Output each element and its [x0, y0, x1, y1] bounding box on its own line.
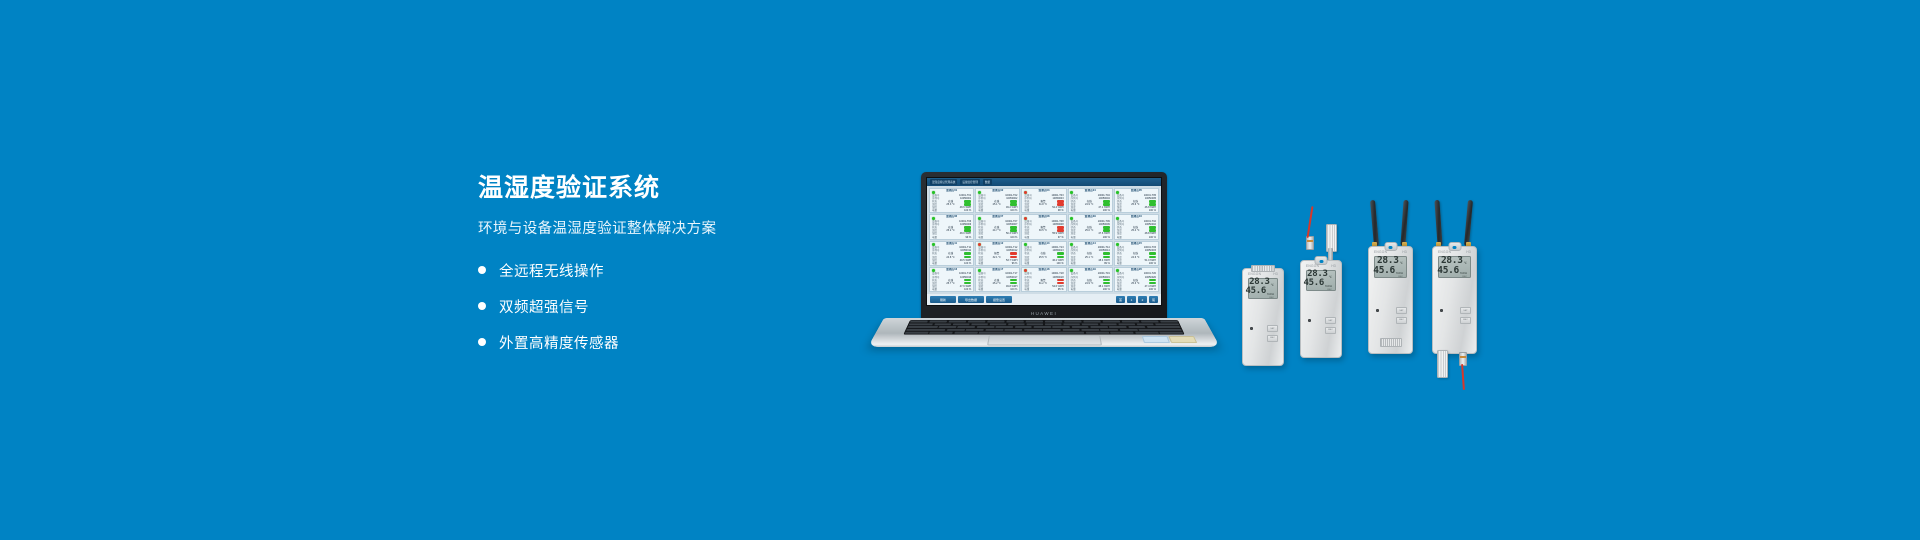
trackpad[interactable] — [987, 335, 1102, 345]
sensor-card-row: 电量100 % — [1117, 236, 1156, 239]
device-brand-right: H3 — [1273, 272, 1278, 276]
spec-sticker — [1142, 336, 1170, 343]
sensor-card-title: 监测点12 — [978, 243, 1017, 246]
sensor-card-row: 电量100 % — [978, 209, 1017, 212]
sensor-card-title: 监测点13 — [1024, 243, 1063, 246]
device-brand-right: H3 — [1402, 250, 1407, 254]
sensor-card-row: 电量100 % — [1117, 209, 1156, 212]
sensor-field-value: 100 % — [1103, 236, 1110, 239]
sensor-field-label: 电量 — [932, 262, 937, 265]
sensor-card-title: 监测点04 — [1071, 190, 1110, 193]
sensor-field-value: 25.7 ℃ — [946, 282, 954, 285]
sensor-field-value: 100 % — [1057, 262, 1064, 265]
sensor-field-label: 电量 — [1024, 262, 1029, 265]
device-wireless-logger-a: ENGON H3 28.3 ℃ 45.6 %RH REC SET REC — [1368, 246, 1413, 354]
sensor-status-led — [1070, 191, 1073, 194]
probe-wire — [1461, 364, 1464, 390]
sensor-card-title: 监测点07 — [978, 216, 1017, 219]
sensor-field-value: 100 % — [1149, 209, 1156, 212]
sensor-card[interactable]: 监测点20设备号10001-T20序列号10050020状态在线温度25.3 ℃… — [1114, 267, 1159, 292]
sensor-status-pill — [964, 279, 971, 282]
sensor-field-label: 电量 — [932, 288, 937, 291]
lcd-humidity-line: 45.6 %RH — [1378, 266, 1403, 276]
sensor-field-value: 24.9 ℃ — [1085, 282, 1093, 285]
device-body: ENGON H3 28.3 ℃ 45.6 %RH REC SET REC — [1300, 260, 1342, 358]
lcd-humidity-value: 45.6 — [1437, 266, 1459, 276]
sensor-status-led — [978, 217, 981, 220]
lcd-humidity-unit: %RH — [1460, 272, 1467, 276]
keyboard-row — [909, 323, 1180, 325]
hanging-hook-icon — [1384, 242, 1397, 251]
sensor-card-row: 电量100 % — [1071, 236, 1110, 239]
sensor-field-value: 100 % — [1010, 288, 1017, 291]
sensor-card-title: 监测点11 — [932, 243, 971, 246]
pager-page-2[interactable]: 2 — [1138, 296, 1147, 303]
sensor-card-title: 监测点02 — [978, 190, 1017, 193]
sensor-card-title: 监测点01 — [932, 190, 971, 193]
feature-label: 外置高精度传感器 — [499, 332, 619, 353]
sensor-card-title: 监测点06 — [932, 216, 971, 219]
feature-list: 全远程无线操作 双频超强信号 外置高精度传感器 — [478, 260, 808, 353]
lcd-status-note: REC — [1442, 276, 1467, 278]
hero-copy-block: 温湿度验证系统 环境与设备温湿度验证整体解决方案 全远程无线操作 双频超强信号 … — [478, 175, 808, 368]
device-lcd-display: 28.3 ℃ 45.6 %RH REC — [1374, 256, 1407, 278]
sensor-field-label: 电量 — [1117, 262, 1122, 265]
sensor-card-title: 监测点08 — [1024, 216, 1063, 219]
device-rec-button[interactable]: REC — [1267, 335, 1278, 342]
app-header-bar: 温湿度验证管理系统 设备监控管理 数据 — [927, 178, 1161, 186]
sensor-card-row: 电量100 % — [1071, 209, 1110, 212]
device-rec-button[interactable]: REC — [1325, 327, 1336, 334]
sensor-status-pill — [1103, 252, 1110, 255]
sensor-card[interactable]: 监测点12设备号10001-T12序列号10050012状态报警温度32.1 ℃… — [975, 241, 1020, 266]
sensor-field-value: 25.5 ℃ — [1039, 256, 1047, 259]
device-rec-button[interactable]: REC — [1460, 317, 1471, 324]
sensor-card[interactable]: 监测点19设备号10001-T19序列号10050019状态在线温度24.9 ℃… — [1068, 267, 1113, 292]
vent-grille-icon — [1380, 338, 1402, 347]
humidity-probe-icon — [1437, 350, 1448, 378]
antenna-icon — [1400, 200, 1408, 246]
sensor-status-led — [932, 191, 935, 194]
sensor-field-label: 电量 — [1071, 236, 1076, 239]
sensor-status-led — [1024, 243, 1027, 246]
app-footer-bar: 刷新 导出数据 报警设置 首 1 2 尾 — [927, 294, 1161, 305]
sensor-card-title: 监测点14 — [1071, 243, 1110, 246]
sensor-field-label: 电量 — [932, 236, 937, 239]
sensor-field-value: 25.1 ℃ — [993, 203, 1001, 206]
sensor-field-value: 24.6 ℃ — [1131, 256, 1139, 259]
pager-last[interactable]: 尾 — [1149, 296, 1158, 303]
page-subtitle: 环境与设备温湿度验证整体解决方案 — [478, 217, 808, 238]
pager-page-1[interactable]: 1 — [1127, 296, 1136, 303]
sensor-field-value: 25.2 ℃ — [993, 282, 1001, 285]
sensor-field-value: 24.7 ℃ — [993, 229, 1001, 232]
sensor-card-title: 监测点03 — [1024, 190, 1063, 193]
sensor-field-value: 97 % — [1058, 236, 1064, 239]
sensor-field-label: 电量 — [1117, 288, 1122, 291]
lcd-humidity-unit: %RH — [1396, 272, 1403, 276]
sensor-field-label: 电量 — [978, 236, 983, 239]
sensor-status-led — [1024, 191, 1027, 194]
keyboard-row — [907, 326, 1180, 328]
sensor-status-led — [932, 243, 935, 246]
sensor-field-value: 25.3 ℃ — [946, 203, 954, 206]
device-set-button[interactable]: SET — [1267, 325, 1278, 332]
lcd-humidity-unit: %RH — [1325, 285, 1332, 289]
sensor-field-value: 25.2 ℃ — [946, 229, 954, 232]
device-lcd-display: 28.3 ℃ 45.6 %RH REC — [1248, 278, 1278, 299]
device-logger-probe: ENGON H3 28.3 ℃ 45.6 %RH REC SET REC — [1300, 260, 1342, 358]
sensor-field-value: 24.9 ℃ — [1085, 203, 1093, 206]
sensor-status-pill — [1057, 252, 1064, 255]
sensor-field-value: 24.8 ℃ — [946, 256, 954, 259]
device-body: ENGON H3 28.3 ℃ 45.6 %RH REC SET REC — [1432, 246, 1477, 354]
laptop-brand-label: HUAWEI — [1031, 311, 1057, 316]
sensor-card-row: 电量100 % — [978, 236, 1017, 239]
sensor-field-label: 电量 — [1024, 209, 1029, 212]
sensor-field-label: 电量 — [1071, 209, 1076, 212]
sensor-status-led — [978, 191, 981, 194]
keyboard[interactable] — [903, 320, 1184, 335]
sensor-status-led — [1070, 217, 1073, 220]
lcd-humidity-value: 45.6 — [1373, 266, 1395, 276]
device-brand-right: H3 — [1331, 264, 1336, 268]
device-button-group: SET REC — [1325, 317, 1336, 334]
sensor-card-row: 电量100 % — [932, 209, 971, 212]
export-button[interactable]: 导出数据 — [958, 296, 984, 303]
app-tab[interactable]: 温湿度验证管理系统 — [930, 179, 957, 185]
vent-comb-icon — [1251, 265, 1275, 272]
device-brand-right: H3 — [1466, 250, 1471, 254]
sensor-status-pill — [1103, 279, 1110, 282]
sensor-card[interactable]: 监测点13设备号10001-T13序列号10050013状态在线温度25.5 ℃… — [1021, 241, 1066, 266]
laptop-screen: 温湿度验证管理系统 设备监控管理 数据 监测点01设备号10001-T01序列号… — [926, 177, 1162, 306]
sensor-field-label: 电量 — [978, 262, 983, 265]
sensor-card[interactable]: 监测点17设备号10001-T17序列号10050017状态在线温度25.2 ℃… — [975, 267, 1020, 292]
sensor-status-pill — [1057, 279, 1064, 282]
device-set-button[interactable]: SET — [1396, 307, 1407, 314]
device-status-led — [1308, 319, 1311, 322]
sensor-card[interactable]: 监测点09设备号10001-T09序列号10050009状态在线温度25.0 ℃… — [1068, 214, 1113, 239]
sensor-card[interactable]: 监测点18设备号10001-T18序列号10050018状态报警温度31.2 ℃… — [1021, 267, 1066, 292]
sensor-field-value: 25.3 ℃ — [1131, 282, 1139, 285]
sensor-field-value: 25.6 ℃ — [1131, 203, 1139, 206]
sensor-field-value: 100 % — [964, 288, 971, 291]
sensor-status-pill — [1010, 279, 1017, 282]
probe-wire — [1306, 206, 1313, 238]
lcd-humidity-value: 45.6 — [1246, 287, 1266, 296]
antenna-icon — [1370, 200, 1379, 246]
sensor-field-value: 98 % — [1058, 209, 1064, 212]
sensor-field-value: 100 % — [1010, 236, 1017, 239]
feature-item: 全远程无线操作 — [478, 260, 808, 281]
sensor-card[interactable]: 监测点07设备号10001-T07序列号10050007状态在线温度24.7 ℃… — [975, 214, 1020, 239]
sensor-field-value: 96 % — [1012, 262, 1018, 265]
sensor-card-grid: 监测点01设备号10001-T01序列号10050001状态在线温度25.3 ℃… — [927, 186, 1161, 294]
feature-label: 双频超强信号 — [499, 296, 589, 317]
device-logger-basic: ENGON H3 28.3 ℃ 45.6 %RH REC SET REC — [1242, 268, 1284, 366]
sensor-field-value: 99 % — [965, 236, 971, 239]
sensor-field-value: 25.4 ℃ — [1131, 229, 1139, 232]
sensor-field-value: 31.8 ℃ — [1039, 203, 1047, 206]
sensor-card[interactable]: 监测点02设备号10001-T02序列号10050002状态在线温度25.1 ℃… — [975, 188, 1020, 213]
sensor-status-pill — [964, 252, 971, 255]
sensor-field-label: 电量 — [1071, 262, 1076, 265]
sensor-card-row: 电量100 % — [932, 288, 971, 291]
sensor-card-row: 电量95 % — [1024, 288, 1063, 291]
sensor-field-value: 100 % — [1149, 236, 1156, 239]
device-button-group: SET REC — [1267, 325, 1278, 342]
lcd-status-note: REC — [1252, 297, 1274, 299]
sensor-card-row: 电量97 % — [1024, 236, 1063, 239]
sensor-card[interactable]: 监测点04设备号10001-T04序列号10050004状态在线温度24.9 ℃… — [1068, 188, 1113, 213]
sensor-status-led — [1024, 217, 1027, 220]
alarm-settings-button[interactable]: 报警设置 — [986, 296, 1012, 303]
sensor-card-row: 电量98 % — [1024, 209, 1063, 212]
sensor-card[interactable]: 监测点14设备号10001-T14序列号10050014状态在线温度25.1 ℃… — [1068, 241, 1113, 266]
lcd-status-note: REC — [1378, 276, 1403, 278]
lcd-humidity-value: 45.6 — [1304, 279, 1324, 288]
sensor-field-label: 电量 — [978, 209, 983, 212]
sensor-status-led — [932, 269, 935, 272]
sensor-card[interactable]: 监测点03设备号10001-T03序列号10050003状态报警温度31.8 ℃… — [1021, 188, 1066, 213]
sensor-field-value: 100 % — [964, 262, 971, 265]
sensor-field-value: 25.0 ℃ — [1085, 229, 1093, 232]
hero-banner: 温湿度验证系统 环境与设备温湿度验证整体解决方案 全远程无线操作 双频超强信号 … — [0, 0, 1920, 540]
sensor-field-value: 30.5 ℃ — [1039, 229, 1047, 232]
device-status-led — [1376, 309, 1379, 312]
bullet-dot-icon — [478, 302, 486, 310]
sensor-card-row: 电量100 % — [932, 262, 971, 265]
lcd-humidity-unit: %RH — [1267, 293, 1274, 297]
keyboard-row — [905, 332, 1184, 334]
sensor-card-row: 电量100 % — [1117, 288, 1156, 291]
sensor-field-value: 100 % — [1103, 209, 1110, 212]
feature-item: 双频超强信号 — [478, 296, 808, 317]
sensor-field-label: 电量 — [1117, 209, 1122, 212]
probe-connector — [1306, 236, 1314, 250]
sensor-card[interactable]: 监测点05设备号10001-T05序列号10050005状态在线温度25.6 ℃… — [1114, 188, 1159, 213]
sensor-field-value: 32.1 ℃ — [993, 256, 1001, 259]
sensor-card-row: 电量100 % — [1117, 262, 1156, 265]
sensor-card[interactable]: 监测点06设备号10001-T06序列号10050006状态在线温度25.2 ℃… — [929, 214, 974, 239]
sensor-card-row: 电量96 % — [978, 262, 1017, 265]
bullet-dot-icon — [478, 338, 486, 346]
feature-label: 全远程无线操作 — [499, 260, 604, 281]
sensor-card-title: 监测点10 — [1117, 216, 1156, 219]
sensor-field-value: 31.2 ℃ — [1039, 282, 1047, 285]
device-set-button[interactable]: SET — [1460, 307, 1471, 314]
app-tab[interactable]: 数据 — [983, 179, 992, 185]
sensor-card-row: 电量100 % — [1071, 288, 1110, 291]
sensor-card-row: 电量100 % — [978, 288, 1017, 291]
hanging-hook-icon — [1448, 242, 1461, 251]
sensor-field-value: 100 % — [1149, 262, 1156, 265]
device-set-button[interactable]: SET — [1325, 317, 1336, 324]
device-status-led — [1440, 309, 1443, 312]
sensor-status-led — [978, 243, 981, 246]
sensor-card-title: 监测点05 — [1117, 190, 1156, 193]
sensor-field-label: 电量 — [1024, 288, 1029, 291]
sensor-card[interactable]: 监测点08设备号10001-T08序列号10050008状态报警温度30.5 ℃… — [1021, 214, 1066, 239]
device-lcd-display: 28.3 ℃ 45.6 %RH REC — [1306, 270, 1336, 291]
sensor-field-value: 25.1 ℃ — [1085, 256, 1093, 259]
device-brand-left: ENGON — [1248, 272, 1261, 276]
laptop-product-image: 温湿度验证管理系统 设备监控管理 数据 监测点01设备号10001-T01序列号… — [884, 172, 1204, 372]
sensor-field-value: 100 % — [1010, 209, 1017, 212]
lcd-humidity-line: 45.6 %RH — [1252, 287, 1274, 296]
sensor-status-pill — [1010, 252, 1017, 255]
app-tab[interactable]: 设备监控管理 — [960, 179, 980, 185]
sensor-field-label: 电量 — [1024, 236, 1029, 239]
sensor-card-row: 电量99 % — [932, 236, 971, 239]
lcd-humidity-line: 45.6 %RH — [1310, 279, 1332, 288]
laptop-lid: 温湿度验证管理系统 设备监控管理 数据 监测点01设备号10001-T01序列号… — [921, 172, 1167, 320]
keyboard-row — [906, 329, 1182, 331]
laptop-base — [868, 318, 1220, 347]
device-button-group: SET REC — [1396, 307, 1407, 324]
device-body: ENGON H3 28.3 ℃ 45.6 %RH REC SET REC — [1242, 268, 1284, 366]
sensor-card-title: 监测点15 — [1117, 243, 1156, 246]
sensor-card-row: 电量100 % — [1024, 262, 1063, 265]
device-lcd-display: 28.3 ℃ 45.6 %RH REC — [1438, 256, 1471, 278]
sensor-status-led — [978, 269, 981, 272]
sensor-field-value: 100 % — [964, 209, 971, 212]
sensor-card[interactable]: 监测点16设备号10001-T16序列号10050016状态在线温度25.7 ℃… — [929, 267, 974, 292]
sensor-card-row: 电量99 % — [1071, 262, 1110, 265]
sensor-card[interactable]: 监测点15设备号10001-T15序列号10050015状态在线温度24.6 ℃… — [1114, 241, 1159, 266]
device-wireless-logger-b: ENGON H3 28.3 ℃ 45.6 %RH REC SET REC — [1432, 246, 1477, 354]
sensor-status-led — [932, 217, 935, 220]
sensor-field-value: 95 % — [1058, 288, 1064, 291]
sensor-field-label: 电量 — [932, 209, 937, 212]
sensor-field-label: 电量 — [1117, 236, 1122, 239]
hanging-hook-icon — [1315, 256, 1328, 265]
feature-item: 外置高精度传感器 — [478, 332, 808, 353]
bullet-dot-icon — [478, 266, 486, 274]
sensor-status-pill — [1149, 279, 1156, 282]
page-title: 温湿度验证系统 — [478, 175, 808, 203]
refresh-button[interactable]: 刷新 — [930, 296, 956, 303]
device-body: ENGON H3 28.3 ℃ 45.6 %RH REC SET REC — [1368, 246, 1413, 354]
sensor-field-label: 电量 — [978, 288, 983, 291]
lcd-humidity-line: 45.6 %RH — [1442, 266, 1467, 276]
sensor-field-label: 电量 — [1071, 288, 1076, 291]
sensor-card[interactable]: 监测点11设备号10001-T11序列号10050011状态在线温度24.8 ℃… — [929, 241, 974, 266]
pager-first[interactable]: 首 — [1116, 296, 1125, 303]
sensor-field-value: 100 % — [1149, 288, 1156, 291]
certification-sticker — [1168, 336, 1197, 343]
device-button-group: SET REC — [1460, 307, 1471, 324]
sensor-status-led — [1116, 191, 1119, 194]
antenna-icon — [1434, 200, 1442, 246]
lcd-status-note: REC — [1310, 289, 1332, 291]
sensor-field-value: 100 % — [1103, 288, 1110, 291]
sensor-status-pill — [1149, 252, 1156, 255]
sensor-card[interactable]: 监测点01设备号10001-T01序列号10050001状态在线温度25.3 ℃… — [929, 188, 974, 213]
device-rec-button[interactable]: REC — [1396, 317, 1407, 324]
sensor-card-title: 监测点09 — [1071, 216, 1110, 219]
device-status-led — [1250, 327, 1253, 330]
sensor-field-value: 99 % — [1104, 262, 1110, 265]
antenna-icon — [1464, 200, 1473, 246]
sensor-card[interactable]: 监测点10设备号10001-T10序列号10050010状态在线温度25.4 ℃… — [1114, 214, 1159, 239]
